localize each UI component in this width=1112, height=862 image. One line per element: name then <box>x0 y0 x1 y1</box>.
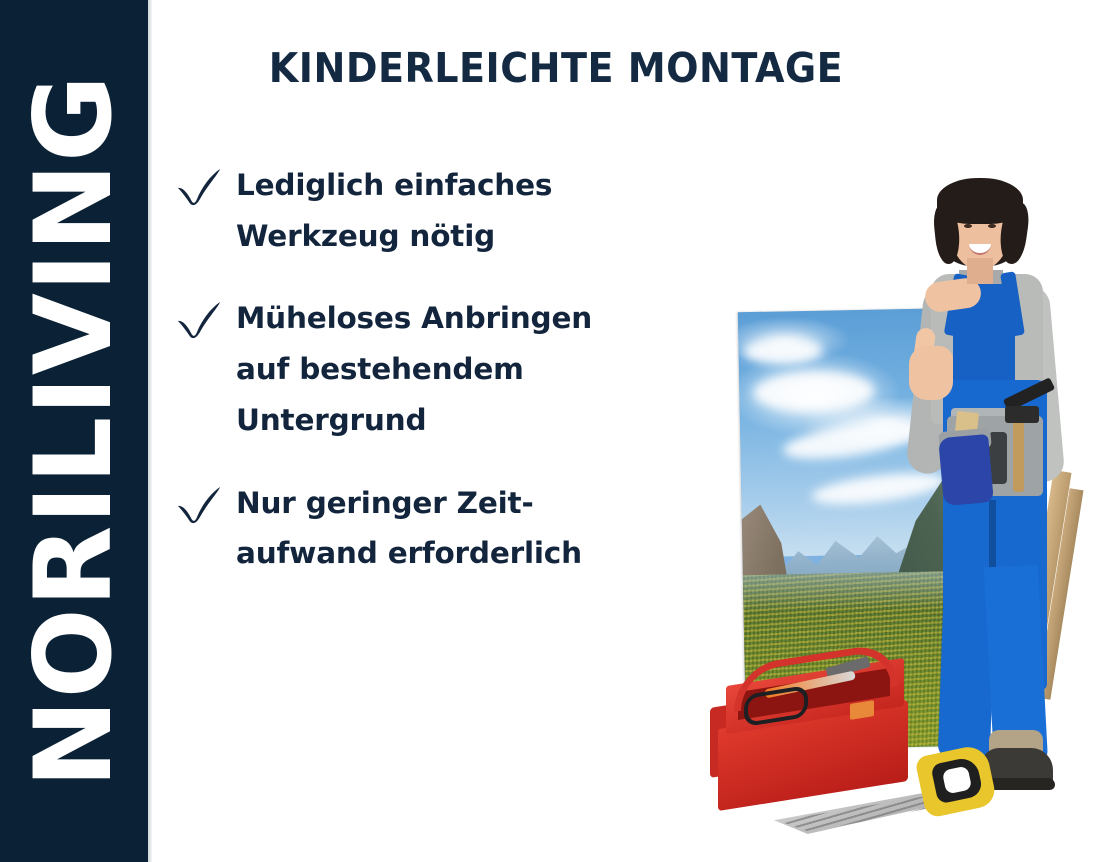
product-photo <box>690 170 1112 862</box>
benefit-text: Nur geringer Zeit- aufwand erforderlich <box>236 478 706 579</box>
benefit-line: auf bestehendem <box>236 344 706 395</box>
left-eye <box>964 224 972 228</box>
check-mark-icon <box>176 478 236 526</box>
benefit-item: Nur geringer Zeit- aufwand erforderlich <box>176 478 706 579</box>
toolbox-group <box>698 650 998 850</box>
benefit-line: aufwand erforderlich <box>236 528 706 579</box>
neck <box>967 258 993 284</box>
brand-band-edge <box>148 0 152 862</box>
check-mark-icon <box>176 293 236 341</box>
benefit-list: Lediglich einfaches Werkzeug nötig Mühel… <box>176 160 706 611</box>
benefit-item: Lediglich einfaches Werkzeug nötig <box>176 160 706 261</box>
check-mark-icon <box>176 160 236 208</box>
promo-banner: NORILIVING KINDERLEICHTE MONTAGE Ledigli… <box>0 0 1112 862</box>
right-eye <box>988 224 996 228</box>
benefit-line: Lediglich einfaches <box>236 160 706 211</box>
hammer-handle <box>1013 414 1024 492</box>
benefit-item: Müheloses Anbringen auf bestehendem Unte… <box>176 293 706 445</box>
work-glove-icon <box>938 434 994 506</box>
brand-wordmark: NORILIVING <box>21 74 127 788</box>
benefit-line: Untergrund <box>236 395 706 446</box>
benefit-text: Müheloses Anbringen auf bestehendem Unte… <box>236 293 706 445</box>
brand-band: NORILIVING <box>0 0 148 862</box>
hammer-head-icon <box>1005 406 1039 423</box>
benefit-text: Lediglich einfaches Werkzeug nötig <box>236 160 706 261</box>
benefit-line: Werkzeug nötig <box>236 211 706 262</box>
page-title: KINDERLEICHTE MONTAGE <box>203 44 910 92</box>
benefit-line: Müheloses Anbringen <box>236 293 706 344</box>
benefit-line: Nur geringer Zeit- <box>236 478 706 529</box>
thumbs-up-hand-icon <box>909 346 953 400</box>
